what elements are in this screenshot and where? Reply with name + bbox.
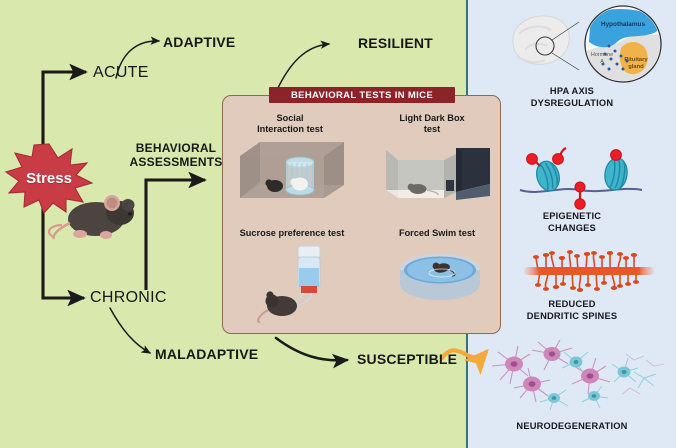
dendritic-spines-caption-line2: DENDRITIC SPINES — [468, 310, 676, 322]
susceptible-label: SUSCEPTIBLE — [357, 352, 457, 368]
chronic-label: CHRONIC — [90, 289, 167, 307]
epigenetic-changes-caption-line2: CHANGES — [468, 222, 676, 234]
social-interaction-test-title-line2: Interaction test — [240, 124, 340, 136]
maladaptive-label: MALADAPTIVE — [155, 347, 258, 363]
resilient-label: RESILIENT — [358, 36, 433, 52]
hormone-label-line1: Hormone — [591, 52, 613, 58]
mouse-icon — [40, 185, 140, 247]
light-dark-box-figure — [384, 140, 492, 206]
social-interaction-chamber-figure — [238, 138, 346, 208]
light-dark-box-test-title-line1: Light Dark Box — [378, 113, 486, 125]
sucrose-preference-test-title: Sucrose preference test — [230, 228, 354, 240]
adaptive-label: ADAPTIVE — [163, 35, 235, 51]
hpa-axis-caption-line1: HPA AXIS — [468, 85, 676, 97]
behavioral-assessments-label-line1: BEHAVIORAL — [128, 142, 224, 155]
hypothalamus-label: Hypothalamus — [601, 21, 645, 28]
hpa-axis-figure: Hypothalamus Hormone A Pituitary gland — [505, 4, 670, 82]
behavioral-tests-banner-label: BEHAVIORAL TESTS IN MICE — [291, 90, 433, 101]
dendritic-spines-caption-line1: REDUCED — [468, 298, 676, 310]
social-interaction-test-title-line1: Social — [240, 113, 340, 125]
neurodegeneration-figure — [484, 336, 670, 416]
hpa-axis-caption-line2: DYSREGULATION — [468, 97, 676, 109]
behavioral-tests-banner: BEHAVIORAL TESTS IN MICE — [269, 87, 455, 103]
diagram-canvas: Stress ACUTE CHRONIC ADAPTIVE MALADAPTIV… — [0, 0, 676, 448]
epigenetic-changes-caption-line1: EPIGENETIC — [468, 210, 676, 222]
hormone-label-line2: A — [600, 59, 604, 65]
neurodegeneration-caption: NEURODEGENERATION — [468, 420, 676, 432]
pituitary-label-line2: gland — [628, 64, 644, 70]
behavioral-assessments-label-line2: ASSESSMENTS — [128, 156, 224, 169]
epigenetic-changes-figure — [518, 146, 644, 208]
sucrose-preference-figure — [256, 244, 346, 324]
dendritic-spines-figure — [524, 250, 654, 292]
acute-label: ACUTE — [93, 64, 149, 82]
light-dark-box-test-title-line2: test — [378, 124, 486, 136]
pituitary-label-line1: Pituitary — [624, 57, 648, 63]
